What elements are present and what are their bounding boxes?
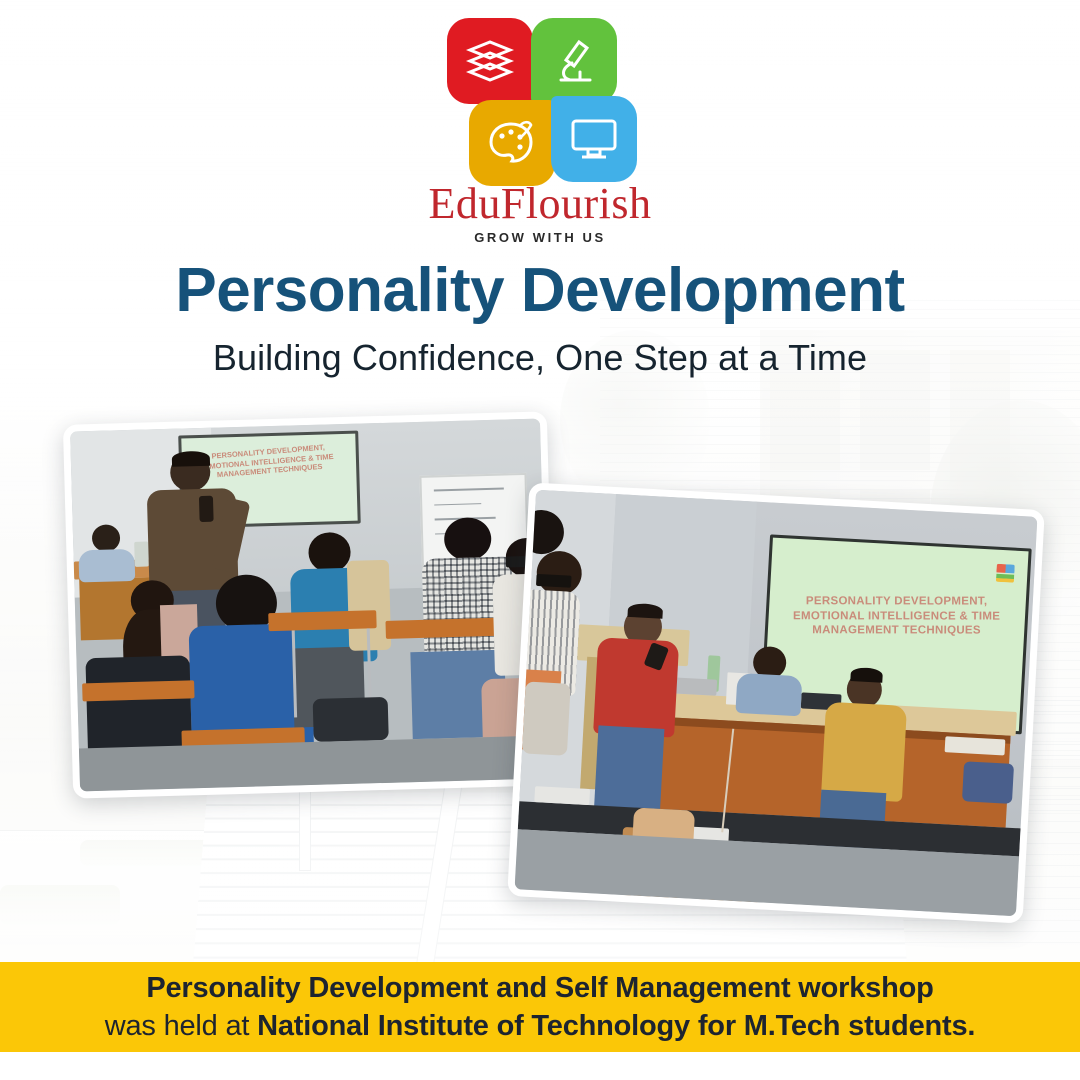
photo-right: PERSONALITY DEVELOPMENT, EMOTIONAL INTEL… [507, 482, 1045, 923]
page-title: Personality Development [0, 258, 1080, 323]
microscope-tile [531, 18, 617, 104]
headline-block: Personality Development Building Confide… [0, 258, 1080, 379]
palette-tile [469, 100, 555, 186]
poster-canvas: EduFlourish GROW WITH US Personality Dev… [0, 0, 1080, 1080]
attendee-body [821, 702, 906, 802]
brand-name: EduFlourish [428, 182, 651, 226]
photo-left-scene: PERSONALITY DEVELOPMENT, EMOTIONAL INTEL… [70, 419, 550, 792]
banner-line-2: was held at National Institute of Techno… [105, 1007, 976, 1045]
power-socket-icon [534, 786, 590, 805]
monitor-tile [551, 96, 637, 182]
logo-tiles [447, 18, 633, 186]
slide-line-1: PERSONALITY DEVELOPMENT, [779, 595, 1015, 610]
photo-right-scene: PERSONALITY DEVELOPMENT, EMOTIONAL INTEL… [515, 490, 1038, 917]
microscope-icon [550, 36, 598, 86]
monitor-icon [568, 117, 620, 161]
photo-left: PERSONALITY DEVELOPMENT, EMOTIONAL INTEL… [63, 411, 557, 798]
slide-line-2: EMOTIONAL INTELLIGENCE & TIME [779, 609, 1015, 624]
palette-icon [487, 119, 537, 167]
books-icon [464, 38, 516, 84]
slide-logo-icon [996, 564, 1015, 583]
footer-banner: Personality Development and Self Managem… [0, 962, 1080, 1052]
slide-line-3: MANAGEMENT TECHNIQUES [779, 624, 1015, 639]
books-tile [447, 18, 533, 104]
brand-tagline: GROW WITH US [474, 230, 606, 245]
glasses-icon [536, 574, 572, 588]
microphone-icon [199, 496, 214, 522]
banner-line-2-bold: National Institute of Technology for M.T… [257, 1010, 975, 1042]
page-subtitle: Building Confidence, One Step at a Time [0, 337, 1080, 379]
banner-line-1: Personality Development and Self Managem… [146, 969, 933, 1007]
banner-line-2-prefix: was held at [105, 1010, 257, 1042]
footer-white-strip [0, 1052, 1080, 1080]
brand-logo: EduFlourish GROW WITH US [0, 18, 1080, 245]
